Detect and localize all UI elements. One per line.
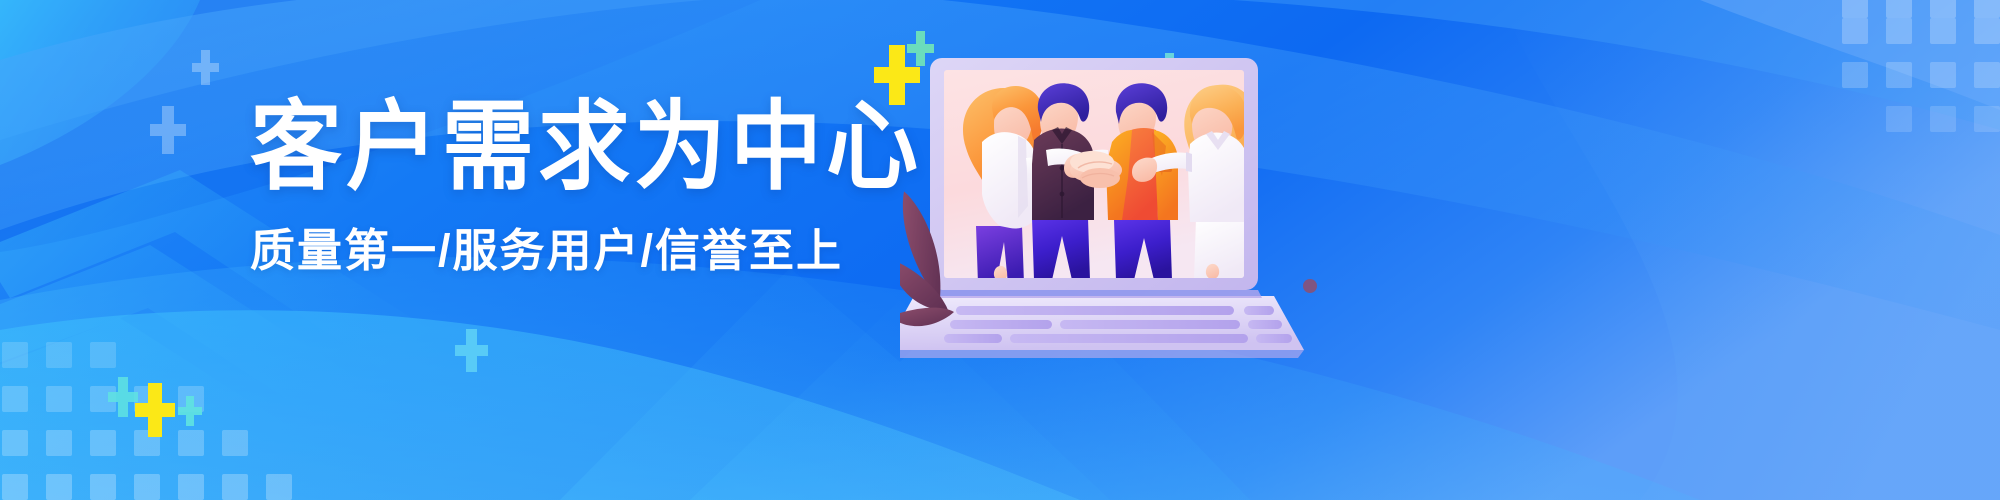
banner-text-block: 客户需求为中心 质量第一/服务用户/信誉至上: [250, 98, 870, 278]
woman-right-cuff: [1186, 152, 1192, 172]
banner-subheadline: 质量第一/服务用户/信誉至上: [250, 224, 870, 278]
laptop-side-dot: [1303, 279, 1317, 293]
man-left-button: [1060, 166, 1065, 171]
woman-right-foot: [1206, 264, 1219, 279]
man-left-button: [1060, 192, 1065, 197]
promotional-banner: 客户需求为中心 质量第一/服务用户/信誉至上: [0, 0, 2000, 500]
woman-left-cardigan: [982, 132, 1036, 228]
laptop-team-illustration: [900, 28, 1320, 373]
laptop-hinge: [926, 290, 1262, 298]
laptop-foot: [900, 350, 1304, 358]
woman-right-skirt: [1194, 218, 1250, 280]
banner-headline: 客户需求为中心: [250, 98, 870, 199]
